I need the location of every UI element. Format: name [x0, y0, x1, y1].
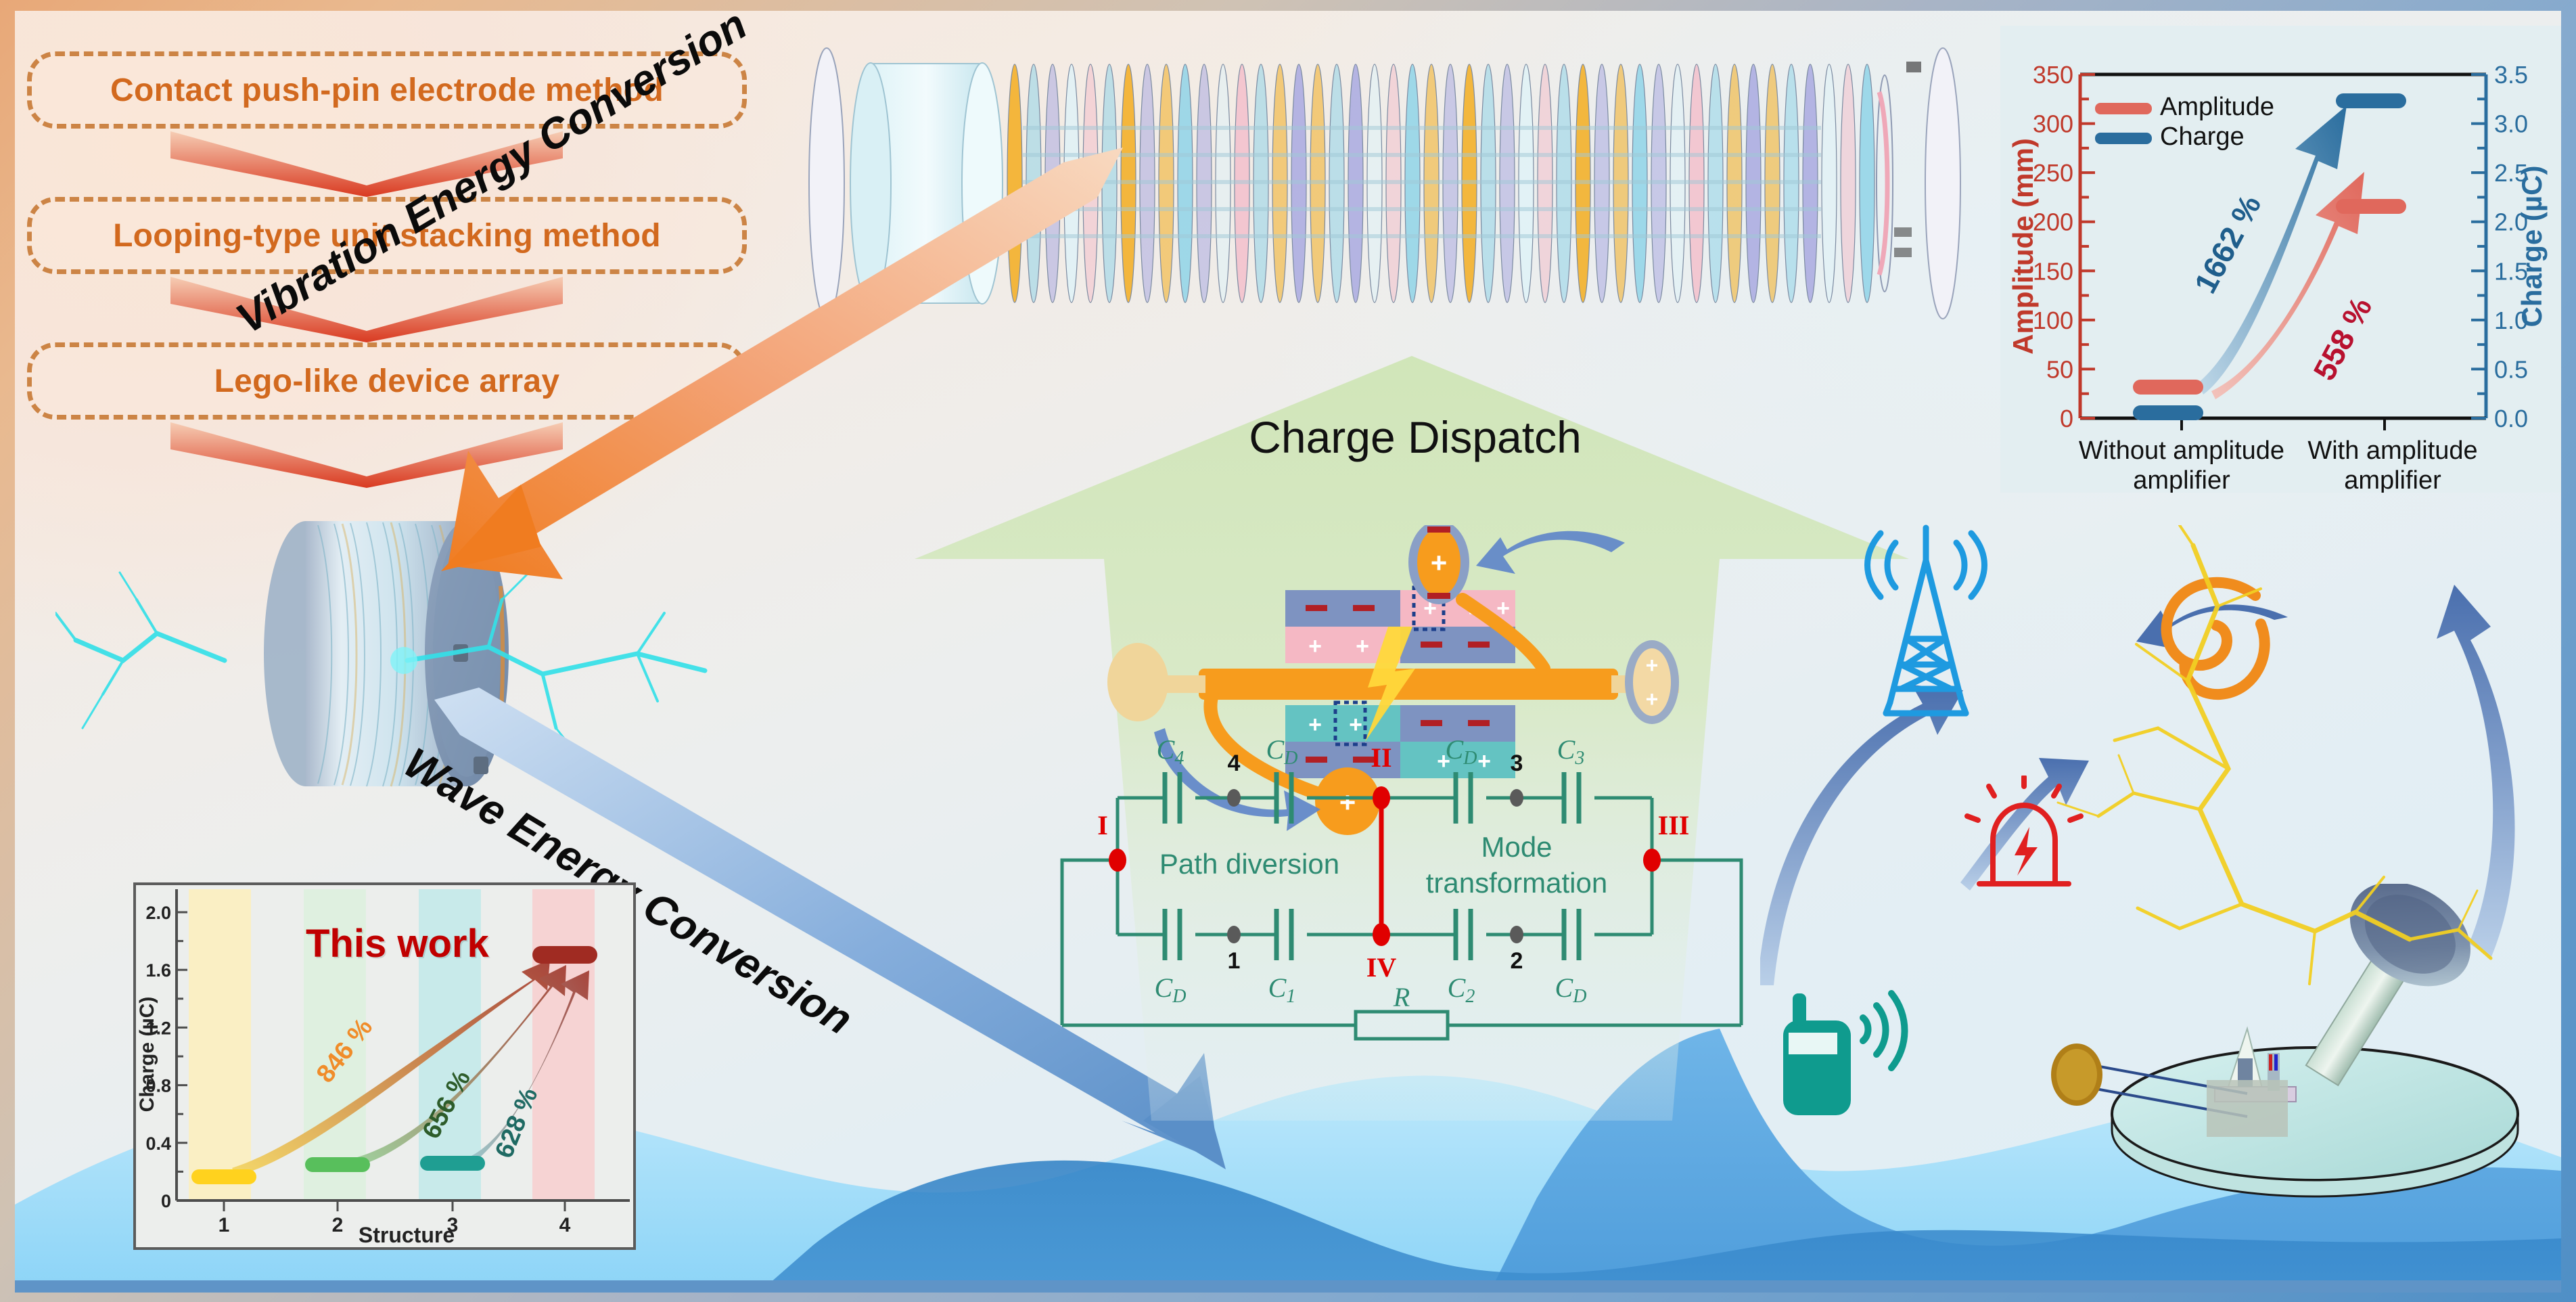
svg-text:2.0: 2.0	[145, 903, 171, 923]
cap-label-c3: C3	[1557, 738, 1585, 769]
svg-text:350: 350	[2033, 61, 2073, 89]
resistor-label: R	[1393, 982, 1410, 1012]
cap-label-cd-top-left: CD	[1266, 738, 1298, 769]
charge-dispatch-title: Charge Dispatch	[1151, 411, 1679, 463]
svg-text:0.5: 0.5	[2494, 355, 2528, 383]
amplitude-charge-chart: Amplitude Charge 050100150200250300350 0…	[2000, 26, 2561, 493]
circuit-label-mode: Mode	[1481, 831, 1552, 863]
x-category-1-line1: With amplitude	[2307, 436, 2477, 465]
x-category-1-line2: amplifier	[2344, 466, 2441, 493]
legend-label-amplitude: Amplitude	[2160, 93, 2274, 121]
svg-text:0.4: 0.4	[145, 1133, 171, 1154]
bar-structure-4	[532, 946, 597, 964]
bar-structure-1	[191, 1169, 256, 1184]
svg-text:0: 0	[2060, 405, 2073, 432]
node-II: II	[1371, 742, 1391, 773]
svg-text:0: 0	[161, 1191, 171, 1211]
cap-label-c4: C4	[1157, 738, 1184, 769]
bar-amplitude-without	[2133, 380, 2203, 395]
band-4	[532, 889, 595, 1200]
svg-text:+: +	[1646, 653, 1659, 677]
svg-text:+: +	[1308, 712, 1322, 738]
cap-label-c2: C2	[1448, 972, 1475, 1007]
circuit-label-path-diversion: Path diversion	[1159, 848, 1339, 880]
cap-label-cd-top-right: CD	[1446, 738, 1477, 769]
cap-label-cd-bot-right: CD	[1555, 972, 1587, 1007]
bar-structure-2	[305, 1157, 370, 1172]
x-axis-label: Structure	[359, 1223, 455, 1247]
node-III: III	[1658, 810, 1690, 840]
bar-amplitude-with	[2336, 199, 2406, 214]
graphical-abstract: Contact push-pin electrode method Loopin…	[0, 0, 2576, 1302]
node-2: 2	[1511, 948, 1523, 974]
node-4: 4	[1228, 750, 1241, 776]
this-work-label: This work	[306, 921, 489, 966]
yellow-lightning	[1977, 525, 2561, 1039]
bar-charge-without	[2133, 405, 2203, 420]
node-1: 1	[1228, 948, 1241, 974]
svg-text:2: 2	[332, 1214, 344, 1236]
x-category-0-line2: amplifier	[2133, 466, 2230, 493]
svg-text:4: 4	[559, 1214, 571, 1236]
svg-text:0.0: 0.0	[2494, 405, 2528, 432]
svg-text:3.0: 3.0	[2494, 110, 2528, 138]
cap-label-c1: C1	[1268, 972, 1296, 1007]
figure-canvas: Contact push-pin electrode method Loopin…	[15, 11, 2561, 1293]
ocean-baseline	[15, 1280, 2561, 1293]
y-axis-label: Amplitude (mm)	[2007, 138, 2039, 355]
x-category-0-line1: Without amplitude	[2079, 436, 2284, 465]
svg-text:1: 1	[218, 1214, 230, 1236]
node-3: 3	[1511, 750, 1523, 776]
node-IV: IV	[1366, 952, 1397, 983]
circuit-label-transformation: transformation	[1426, 867, 1607, 899]
band-1	[189, 889, 251, 1200]
y-axis-label: Charge (µC)	[136, 997, 158, 1113]
legend-swatch-charge	[2095, 133, 2152, 144]
svg-text:50: 50	[2046, 355, 2073, 383]
legend-swatch-amplitude	[2095, 103, 2152, 114]
legend-label-charge: Charge	[2160, 122, 2245, 151]
svg-text:1.6: 1.6	[145, 960, 171, 981]
bar-structure-3	[420, 1156, 485, 1171]
svg-text:3.5: 3.5	[2494, 61, 2528, 89]
node-I: I	[1097, 810, 1108, 840]
svg-text:+: +	[1646, 687, 1659, 711]
svg-text:+: +	[1356, 633, 1369, 659]
svg-text:+: +	[1431, 547, 1448, 579]
cap-label-cd-bot-left: CD	[1155, 972, 1187, 1007]
equivalent-circuit-diagram: C4 CD CD C3 CD C1 C2 CD R 43 12 III IIII…	[1050, 738, 1753, 1083]
bar-charge-with	[2336, 93, 2406, 108]
svg-text:300: 300	[2033, 110, 2073, 138]
svg-text:+: +	[1308, 633, 1322, 659]
walkie-talkie-icon	[1760, 979, 1943, 1148]
svg-text:+: +	[1349, 712, 1362, 738]
y2-axis-label: Charge (µC)	[2516, 166, 2548, 328]
